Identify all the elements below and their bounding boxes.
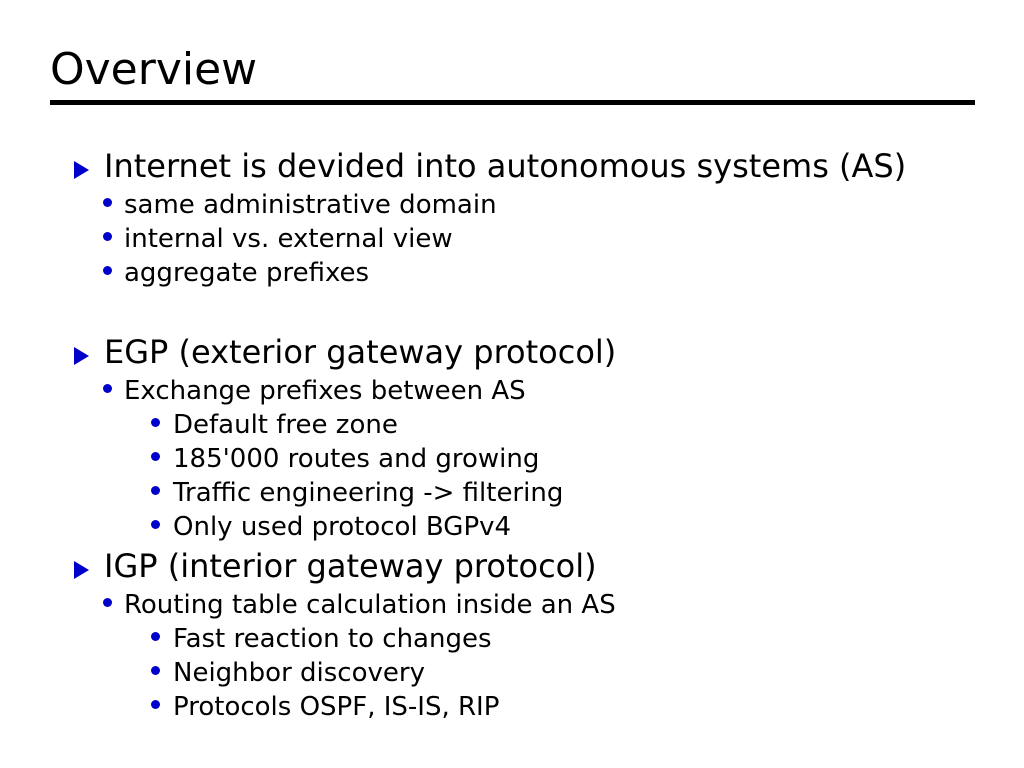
outline-item-text: IGP (interior gateway protocol) xyxy=(104,544,597,588)
outline-item-level3: Traffic engineering -> filtering xyxy=(0,476,1024,510)
round-bullet-icon xyxy=(103,259,124,293)
outline-item-level1: Internet is devided into autonomous syst… xyxy=(0,144,1024,188)
outline-item-text: Only used protocol BGPv4 xyxy=(173,510,511,544)
round-bullet-icon xyxy=(151,693,173,727)
title-underline-rule xyxy=(50,100,975,105)
triangle-right-bullet-icon xyxy=(74,336,104,380)
triangle-right-bullet-icon xyxy=(74,150,104,194)
outline-item-level3: Protocols OSPF, IS-IS, RIP xyxy=(0,690,1024,724)
page-title: Overview xyxy=(50,44,975,96)
outline-item-level2: internal vs. external view xyxy=(0,222,1024,256)
triangle-right-bullet-glyph xyxy=(74,347,89,365)
round-bullet-glyph xyxy=(151,700,160,709)
outline-item-text: Internet is devided into autonomous syst… xyxy=(104,144,906,188)
outline-item-text: Exchange prefixes between AS xyxy=(124,374,526,408)
round-bullet-glyph xyxy=(103,232,112,241)
round-bullet-icon xyxy=(151,513,173,547)
outline-item-level1: IGP (interior gateway protocol) xyxy=(0,544,1024,588)
outline-item-text: Neighbor discovery xyxy=(173,656,425,690)
outline-item-text: 185'000 routes and growing xyxy=(173,442,539,476)
outline-item-text: aggregate prefixes xyxy=(124,256,369,290)
round-bullet-icon xyxy=(151,659,173,693)
title-block: Overview xyxy=(50,44,975,96)
outline-item-level3: 185'000 routes and growing xyxy=(0,442,1024,476)
round-bullet-glyph xyxy=(151,452,160,461)
outline-item-level3: Neighbor discovery xyxy=(0,656,1024,690)
round-bullet-icon xyxy=(103,591,124,625)
outline-item-text: internal vs. external view xyxy=(124,222,453,256)
round-bullet-icon xyxy=(151,411,173,445)
outline-item-text: Protocols OSPF, IS-IS, RIP xyxy=(173,690,499,724)
outline-item-level2: Exchange prefixes between AS xyxy=(0,374,1024,408)
outline-item-level3: Fast reaction to changes xyxy=(0,622,1024,656)
round-bullet-glyph xyxy=(151,520,160,529)
outline-item-level3: Default free zone xyxy=(0,408,1024,442)
round-bullet-glyph xyxy=(151,666,160,675)
round-bullet-icon xyxy=(151,625,173,659)
round-bullet-glyph xyxy=(151,418,160,427)
outline-spacer xyxy=(0,290,1024,330)
outline-item-text: Default free zone xyxy=(173,408,398,442)
round-bullet-glyph xyxy=(103,266,112,275)
round-bullet-icon xyxy=(103,377,124,411)
round-bullet-icon xyxy=(103,191,124,225)
outline-item-text: Traffic engineering -> filtering xyxy=(173,476,563,510)
outline-item-level1: EGP (exterior gateway protocol) xyxy=(0,330,1024,374)
round-bullet-glyph xyxy=(103,198,112,207)
outline-item-level3: Only used protocol BGPv4 xyxy=(0,510,1024,544)
round-bullet-icon xyxy=(103,225,124,259)
triangle-right-bullet-glyph xyxy=(74,161,89,179)
outline-item-level2: same administrative domain xyxy=(0,188,1024,222)
round-bullet-glyph xyxy=(151,486,160,495)
round-bullet-icon xyxy=(151,445,173,479)
outline-item-level2: Routing table calculation inside an AS xyxy=(0,588,1024,622)
triangle-right-bullet-icon xyxy=(74,550,104,594)
outline-item-level2: aggregate prefixes xyxy=(0,256,1024,290)
round-bullet-glyph xyxy=(103,598,112,607)
outline-item-text: Routing table calculation inside an AS xyxy=(124,588,616,622)
slide-body-outline: Internet is devided into autonomous syst… xyxy=(0,144,1024,724)
triangle-right-bullet-glyph xyxy=(74,561,89,579)
outline-item-text: EGP (exterior gateway protocol) xyxy=(104,330,616,374)
round-bullet-icon xyxy=(151,479,173,513)
presentation-slide: Overview Internet is devided into autono… xyxy=(0,0,1024,768)
round-bullet-glyph xyxy=(151,632,160,641)
round-bullet-glyph xyxy=(103,384,112,393)
outline-item-text: same administrative domain xyxy=(124,188,497,222)
outline-item-text: Fast reaction to changes xyxy=(173,622,492,656)
